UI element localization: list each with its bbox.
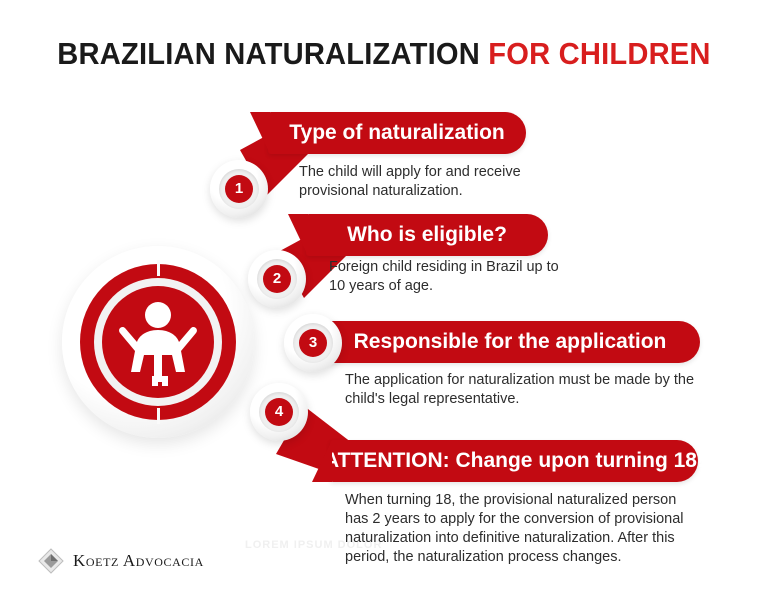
step-1-number-circle: 1 bbox=[210, 160, 268, 218]
step-2-heading: Who is eligible? bbox=[333, 223, 521, 247]
step-4-number-circle: 4 bbox=[250, 383, 308, 441]
step-4-banner: ATTENTION: Change upon turning 18! bbox=[330, 440, 698, 482]
emblem-notch-top bbox=[157, 260, 160, 276]
step-3-banner: Responsible for the application bbox=[320, 321, 700, 363]
step-2-number: 2 bbox=[263, 265, 291, 293]
infographic-canvas: BRAZILIAN NATURALIZATION FOR CHILDREN Ty… bbox=[0, 0, 768, 601]
step-2-body: Foreign child residing in Brazil up to 1… bbox=[329, 258, 567, 296]
step-4-heading: ATTENTION: Change upon turning 18! bbox=[310, 449, 718, 473]
title-red-part: FOR CHILDREN bbox=[488, 36, 710, 71]
step-3-number: 3 bbox=[299, 329, 327, 357]
logo: Koetz Advocacia bbox=[38, 548, 204, 574]
step-1-banner: Type of naturalization bbox=[268, 112, 526, 154]
logo-text: Koetz Advocacia bbox=[73, 551, 204, 571]
emblem bbox=[72, 256, 244, 428]
step-3-body: The application for naturalization must … bbox=[345, 371, 695, 409]
step-2-number-circle: 2 bbox=[248, 250, 306, 308]
step-1-heading: Type of naturalization bbox=[275, 121, 518, 145]
step-3-number-circle: 3 bbox=[284, 314, 342, 372]
step-4-body: When turning 18, the provisional natural… bbox=[345, 491, 695, 567]
step-2-banner: Who is eligible? bbox=[306, 214, 548, 256]
page-title: BRAZILIAN NATURALIZATION FOR CHILDREN bbox=[23, 36, 745, 72]
step-4-number: 4 bbox=[265, 398, 293, 426]
diamond-logo-icon bbox=[38, 548, 64, 574]
title-dark-part: BRAZILIAN NATURALIZATION bbox=[57, 36, 488, 71]
step-3-heading: Responsible for the application bbox=[340, 330, 681, 354]
step-1-number: 1 bbox=[225, 175, 253, 203]
step-1-body: The child will apply for and receive pro… bbox=[299, 163, 539, 201]
child-icon bbox=[118, 300, 198, 386]
emblem-notch-bottom bbox=[157, 408, 160, 424]
